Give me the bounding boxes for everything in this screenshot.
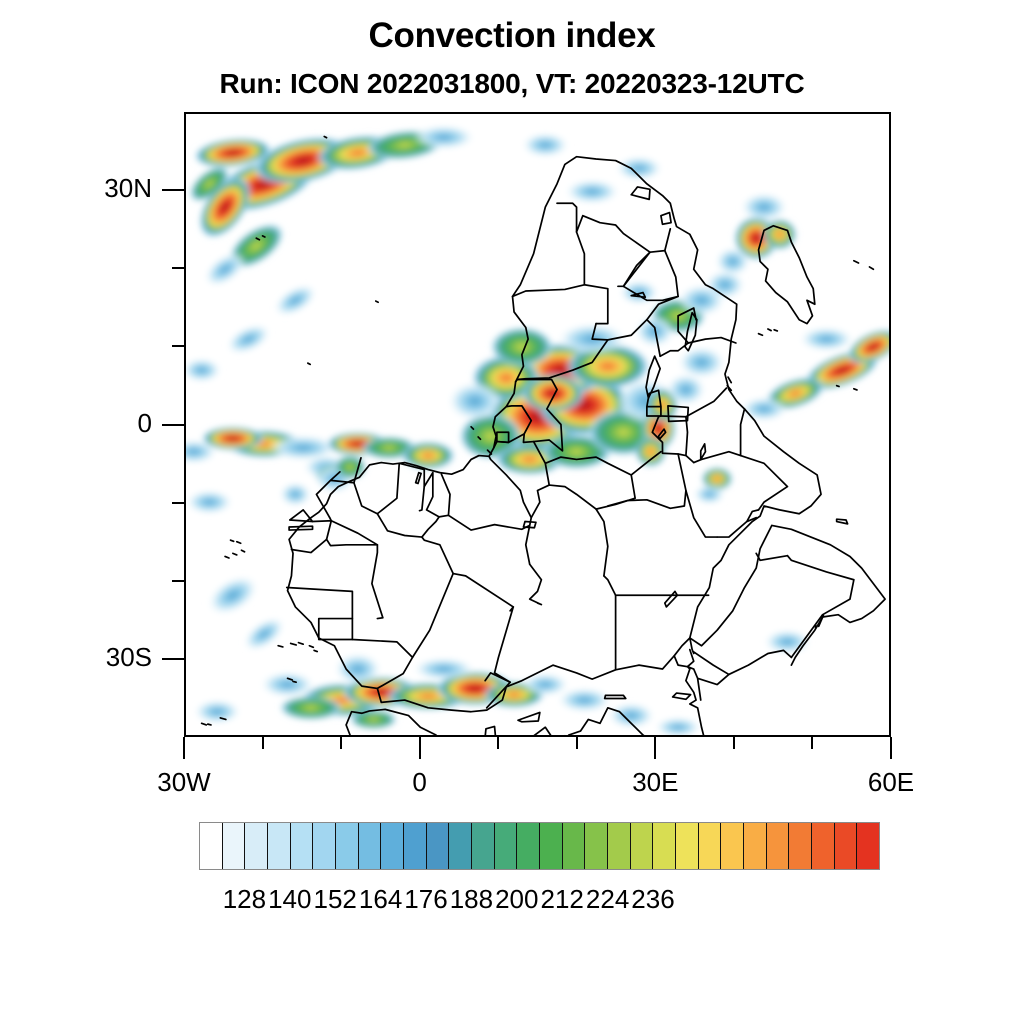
mascarene-islands: [854, 261, 874, 270]
colorbar-cell: [517, 823, 540, 869]
colorbar-cell: [359, 823, 382, 869]
lon-tick-minor: [576, 737, 578, 749]
lat-tick-label: 0: [4, 408, 152, 439]
border-mali-guinea-senegal: [330, 518, 378, 545]
colorbar-cell: [812, 823, 835, 869]
border-uganda-kenya: [686, 417, 694, 463]
colorbar-cell: [223, 823, 246, 869]
colorbar-cell: [472, 823, 495, 869]
colorbar-cell: [495, 823, 518, 869]
lat-tick-minor: [172, 502, 184, 504]
colorbar-tick-label: 164: [359, 884, 402, 915]
colorbar-cell: [381, 823, 404, 869]
colorbar-cell: [835, 823, 858, 869]
colorbar-cell: [789, 823, 812, 869]
border-namibia-botswana-za: [557, 203, 584, 285]
lake-turkana: [701, 444, 706, 460]
colorbar-tick-label: 140: [268, 884, 311, 915]
lon-tick-minor: [811, 737, 813, 749]
border-angola-zambia: [584, 285, 607, 324]
border-eritrea-djibouti: [717, 510, 758, 537]
field-south-atlantic-front: [186, 126, 475, 293]
colorbar-cell: [857, 823, 879, 869]
sardinia: [484, 726, 496, 735]
colorbar-cell: [268, 823, 291, 869]
map-canvas: [186, 114, 889, 735]
border-niger-chad: [526, 525, 530, 564]
border-libya-niger-chad: [530, 564, 542, 604]
lat-tick-label: 30N: [4, 173, 152, 204]
border-mauritania-mali: [327, 539, 383, 618]
border-chad-sudan: [596, 509, 608, 576]
lon-tick-major: [654, 737, 656, 759]
colorbar-cell: [631, 823, 654, 869]
lon-tick-minor: [262, 737, 264, 749]
lon-tick-minor: [733, 737, 735, 749]
tristan: [324, 137, 326, 138]
colorbar-cell: [608, 823, 631, 869]
border-western-sahara: [287, 588, 353, 640]
colorbar-cell: [336, 823, 359, 869]
colorbar-cell: [699, 823, 722, 869]
lon-tick-label: 30E: [575, 767, 735, 798]
lat-tick-minor: [172, 580, 184, 582]
border-chad-cameroon-car: [531, 485, 596, 518]
lon-tick-label: 30W: [104, 767, 264, 798]
border-lesotho: [631, 187, 650, 199]
colorbar-cell: [449, 823, 472, 869]
lon-tick-major: [890, 737, 892, 759]
cyprus: [673, 693, 691, 699]
colorbar-cell: [404, 823, 427, 869]
seychelles: [837, 386, 857, 390]
colorbar-tick-label: 224: [586, 884, 629, 915]
border-algeria-mali-niger: [413, 574, 514, 658]
lon-tick-label: 60E: [811, 767, 971, 798]
border-algeria-libya: [495, 607, 514, 682]
lat-tick-major: [162, 189, 184, 191]
lat-tick-major: [162, 424, 184, 426]
border-mali-burkina: [377, 514, 422, 537]
border-benin-nigeria: [439, 474, 450, 517]
colorbar-tick-label: 212: [540, 884, 583, 915]
border-mali-niger: [422, 517, 453, 574]
lat-tick-label: 30S: [4, 642, 152, 673]
colorbar-cell: [291, 823, 314, 869]
colorbar-cell: [744, 823, 767, 869]
lake-volta: [416, 473, 421, 484]
border-swaziland: [661, 213, 671, 225]
border-sudan-southsudan: [608, 490, 686, 508]
lon-tick-minor: [340, 737, 342, 749]
field-northwest-africa: [260, 653, 654, 728]
colorbar-cell: [653, 823, 676, 869]
colorbar-tick-label: 200: [495, 884, 538, 915]
lon-tick-major: [419, 737, 421, 759]
border-nigeria-niger: [448, 515, 529, 530]
colorbar-cell: [676, 823, 699, 869]
border-ghana-togo: [399, 463, 424, 510]
lon-tick-major: [183, 737, 185, 759]
lon-tick-label: 0: [340, 767, 500, 798]
field-southwest-indian-ocean: [741, 323, 889, 421]
lat-tick-minor: [172, 267, 184, 269]
colorbar-cell: [427, 823, 450, 869]
colorbar-tick-label: 176: [404, 884, 447, 915]
border-gambia: [289, 526, 312, 530]
colorbar-tick-label: 152: [313, 884, 356, 915]
colorbar-tick-label: 128: [223, 884, 266, 915]
colorbar-cell: [563, 823, 586, 869]
field-mozambique-channel: [716, 193, 797, 275]
lake-nasser: [665, 591, 677, 607]
colorbar-cell: [585, 823, 608, 869]
border-mozambique-tanzania: [688, 338, 736, 343]
border-iraq-saudi: [729, 650, 791, 674]
border-ethiopia-somalia: [741, 456, 788, 510]
colorbar-tick-labels: 128140152164176188200212224236: [0, 884, 1024, 918]
colorbar[interactable]: [199, 822, 880, 870]
border-zimbabwe-mozambique: [665, 251, 678, 297]
colorbar-tick-label: 188: [450, 884, 493, 915]
colorbar-cell: [313, 823, 336, 869]
colorbar-tick-label: 236: [631, 884, 674, 915]
socotra: [837, 519, 848, 524]
border-libya-egypt: [604, 576, 616, 670]
lat-tick-minor: [172, 345, 184, 347]
border-togo-benin: [424, 473, 439, 517]
cape-verde-islands: [225, 540, 245, 558]
st-helena: [376, 301, 378, 302]
comoros-islands: [759, 329, 778, 335]
lon-tick-minor: [497, 737, 499, 749]
colorbar-cell: [540, 823, 563, 869]
sicily: [518, 712, 540, 721]
ascension: [308, 363, 310, 364]
colorbar-cell: [721, 823, 744, 869]
colorbar-cell: [245, 823, 268, 869]
figure-root: Convection index Run: ICON 2022031800, V…: [0, 0, 1024, 1024]
subtitle: Run: ICON 2022031800, VT: 20220323-12UTC: [0, 68, 1024, 100]
lat-tick-major: [162, 658, 184, 660]
canary-islands: [278, 643, 317, 652]
colorbar-cell: [767, 823, 790, 869]
map-plot-area[interactable]: [184, 112, 891, 737]
border-mauritania-senegal: [291, 539, 326, 552]
border-saudi-yemen: [756, 553, 787, 560]
page-title: Convection index: [0, 16, 1024, 56]
colorbar-cell: [200, 823, 223, 869]
border-angola-namibia: [513, 285, 585, 297]
border-botswana-za: [577, 216, 650, 252]
